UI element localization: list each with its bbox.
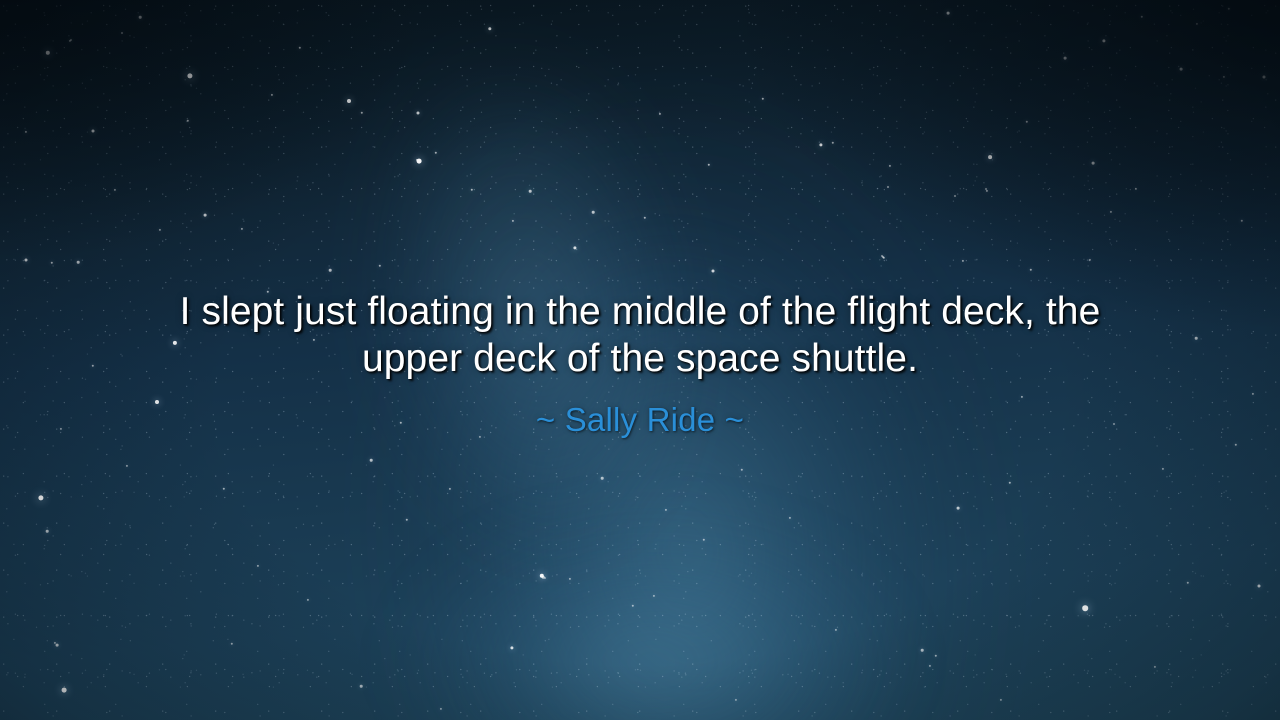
quote-block: I slept just floating in the middle of t… bbox=[0, 288, 1280, 439]
quote-text: I slept just floating in the middle of t… bbox=[160, 288, 1120, 382]
quote-author: ~ Sally Ride ~ bbox=[0, 401, 1280, 439]
quote-wallpaper: I slept just floating in the middle of t… bbox=[0, 0, 1280, 720]
